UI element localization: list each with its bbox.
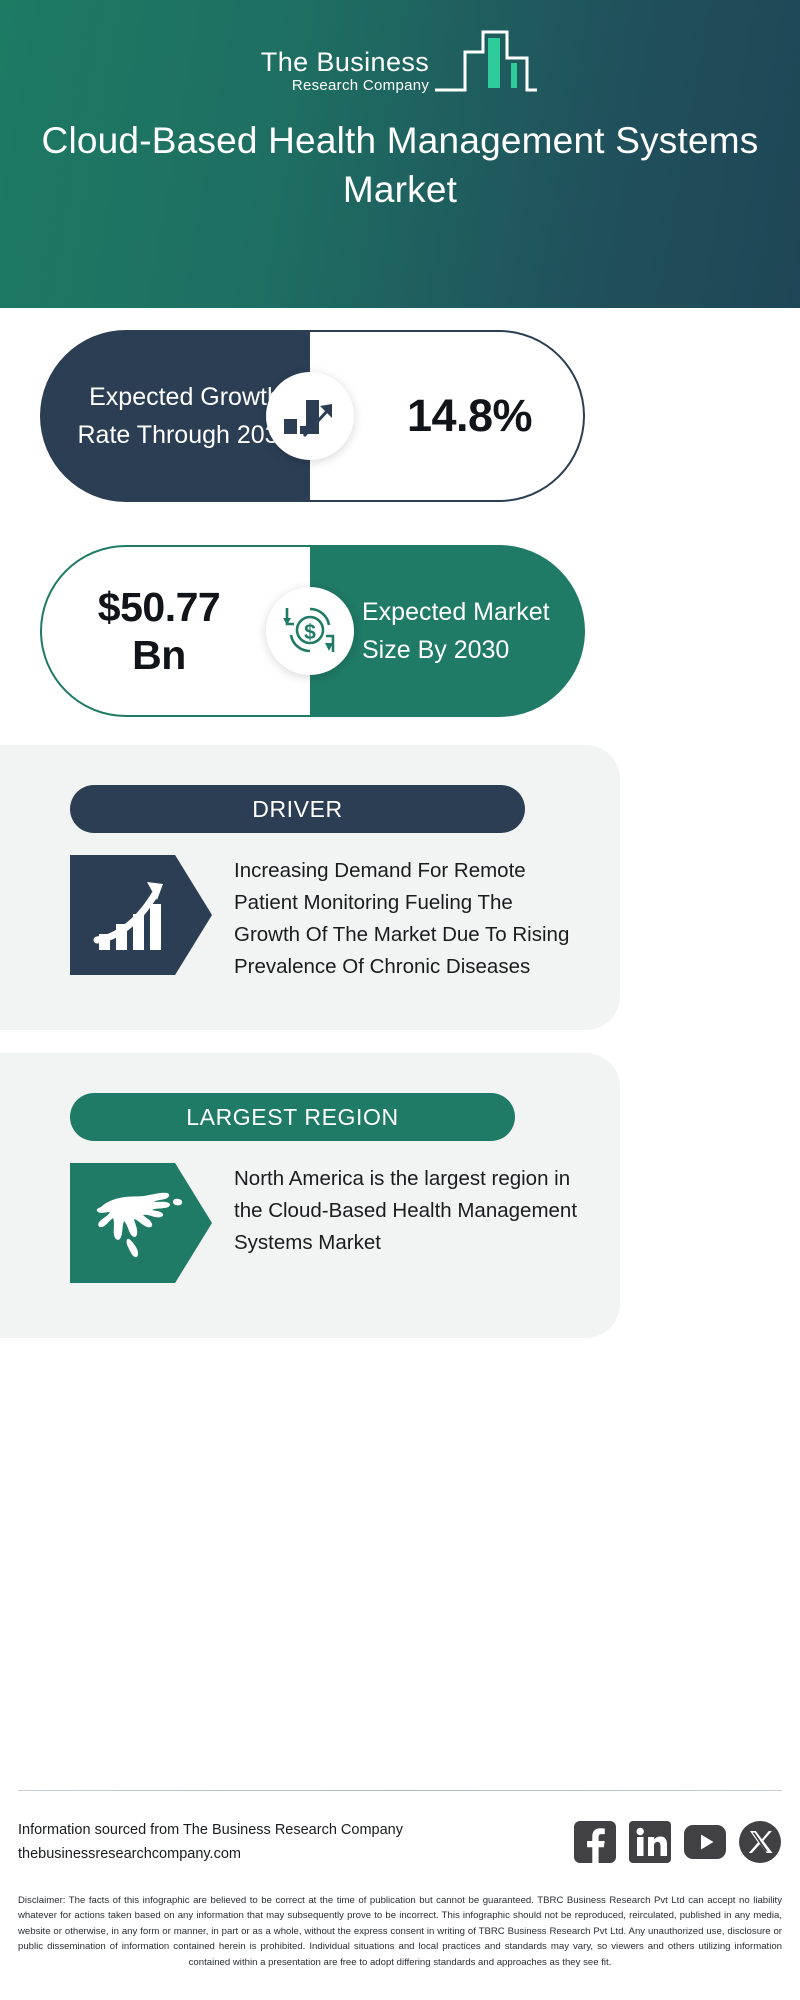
svg-text:$: $ [304, 621, 316, 644]
growth-chart-arrow-icon [70, 855, 212, 975]
source-credit: Information sourced from The Business Re… [18, 1818, 403, 1866]
linkedin-icon[interactable] [628, 1820, 672, 1864]
region-text: North America is the largest region in t… [234, 1163, 579, 1283]
header-banner: The Business Research Company Cloud-Base… [0, 0, 800, 308]
driver-panel: DRIVER Increasing Demand For Remote Pati… [0, 745, 620, 1030]
region-heading-pill: LARGEST REGION [70, 1093, 515, 1141]
company-logo: The Business Research Company [0, 22, 800, 101]
north-america-map-icon [70, 1163, 212, 1283]
region-body: North America is the largest region in t… [70, 1163, 579, 1283]
driver-body: Increasing Demand For Remote Patient Mon… [70, 855, 579, 983]
largest-region-panel: LARGEST REGION North America is the larg… [0, 1053, 620, 1338]
facebook-icon[interactable] [573, 1820, 617, 1864]
region-heading: LARGEST REGION [186, 1104, 398, 1131]
stat-card-market-size: $50.77 Bn Expected Market Size By 2030 $ [40, 545, 585, 717]
dollar-circular-arrows-icon: $ [266, 587, 354, 675]
x-twitter-icon[interactable] [738, 1820, 782, 1864]
footer-divider [18, 1790, 782, 1791]
source-line-2[interactable]: thebusinessresearchcompany.com [18, 1842, 403, 1866]
growth-bar-chart-arrow-icon [266, 372, 354, 460]
logo-title: The Business [261, 47, 429, 77]
youtube-icon[interactable] [683, 1820, 727, 1864]
logo-subtitle: Research Company [261, 77, 429, 95]
stat-size-value: $50.77 Bn [98, 583, 254, 679]
disclaimer-text: Disclaimer: The facts of this infographi… [18, 1893, 782, 1970]
logo-bar-chart-icon [431, 22, 539, 99]
stat-card-growth-rate: Expected Growth Rate Through 2030 14.8% [40, 330, 585, 502]
stat-size-value-line2: Bn [132, 632, 186, 678]
social-links [573, 1820, 782, 1864]
page-title: Cloud-Based Health Management Systems Ma… [40, 116, 760, 214]
stat-growth-value: 14.8% [361, 390, 532, 442]
driver-heading-pill: DRIVER [70, 785, 525, 833]
source-line-1: Information sourced from The Business Re… [18, 1818, 403, 1842]
infographic-page: The Business Research Company Cloud-Base… [0, 0, 800, 2000]
driver-heading: DRIVER [252, 796, 343, 823]
driver-text: Increasing Demand For Remote Patient Mon… [234, 855, 579, 983]
stat-size-value-line1: $50.77 [98, 584, 220, 630]
